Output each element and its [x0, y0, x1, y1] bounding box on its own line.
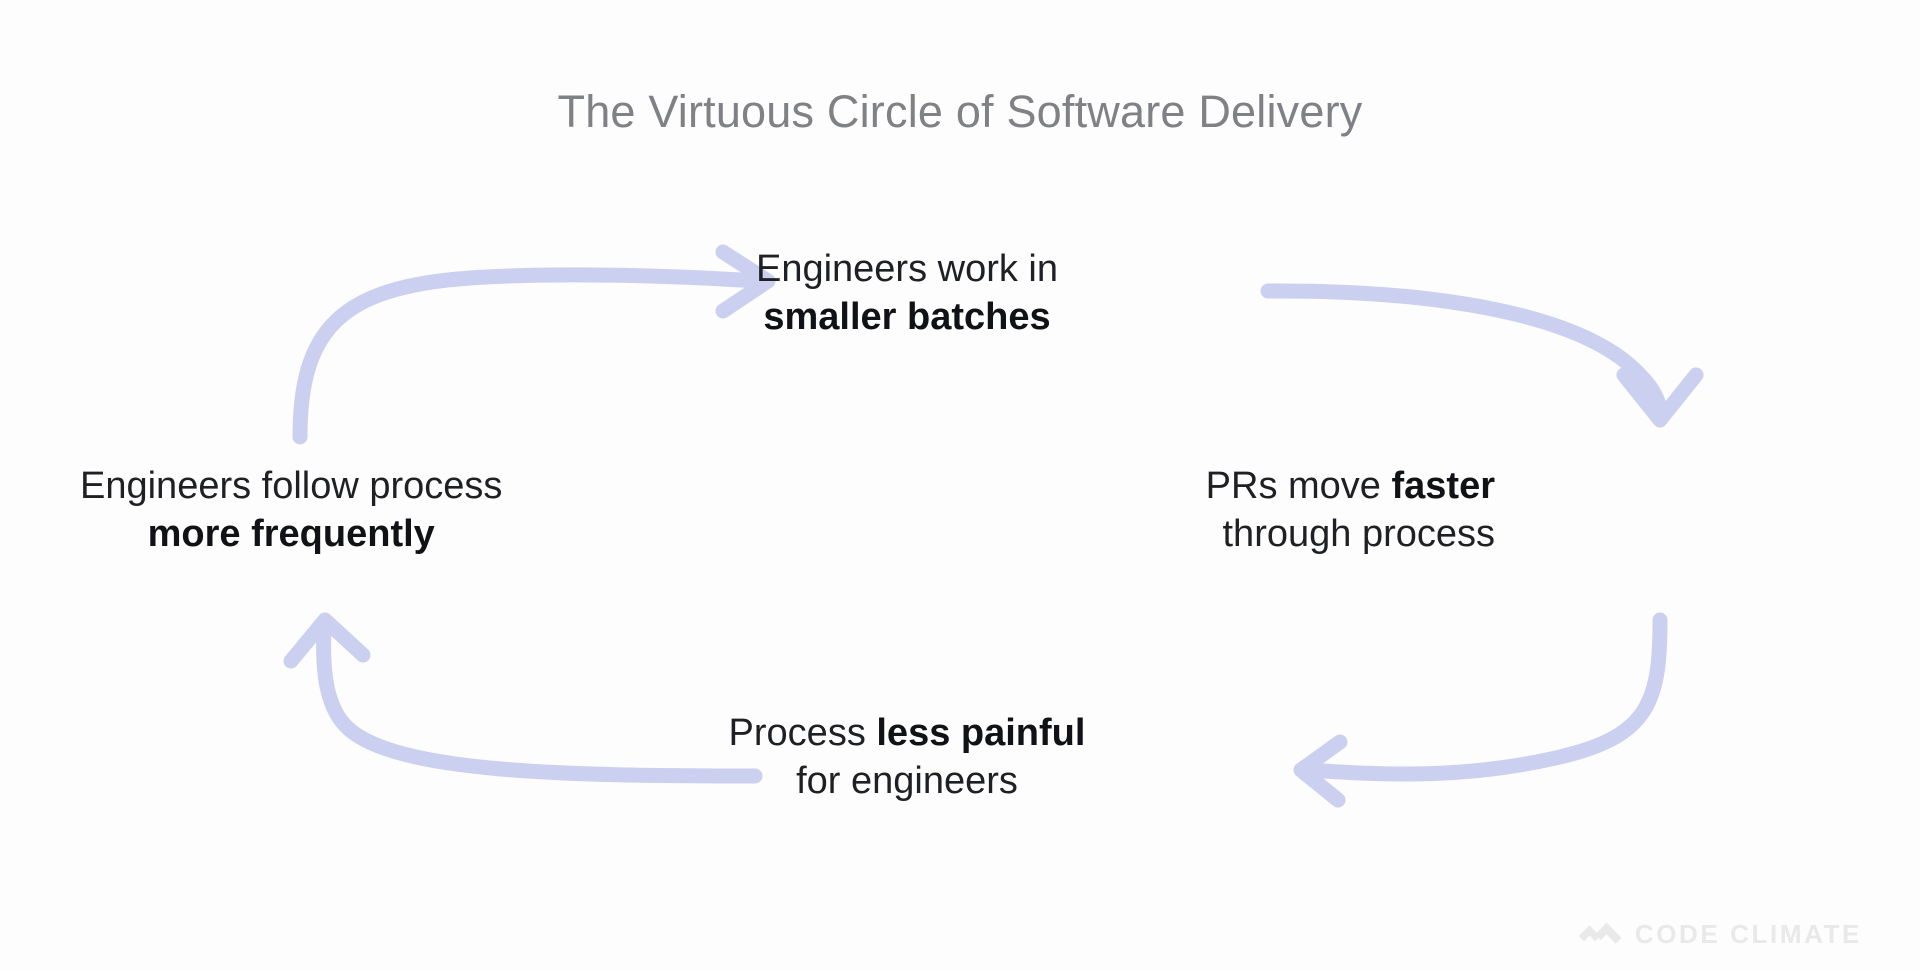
node-bottom-line-2: for engineers	[729, 758, 1086, 806]
mountains-icon	[1578, 922, 1622, 947]
code-climate-logo: CODE CLIMATE	[1578, 921, 1862, 947]
node-right-line-2: through process	[1206, 511, 1495, 559]
node-right-line-1-prefix: PRs move	[1206, 465, 1392, 507]
diagram-canvas: The Virtuous Circle of Software Delivery	[0, 0, 1920, 971]
node-left-line-2: more frequently	[148, 513, 435, 555]
logo-wordmark: CODE CLIMATE	[1635, 921, 1862, 947]
node-top: Engineers work in smaller batches	[0, 246, 1920, 342]
node-top-line-2: smaller batches	[763, 296, 1050, 338]
node-right-line-1-bold: faster	[1392, 465, 1496, 507]
node-bottom-line-1-bold: less painful	[876, 712, 1085, 754]
page-title: The Virtuous Circle of Software Delivery	[0, 86, 1920, 138]
node-left-line-1: Engineers follow process	[80, 463, 502, 511]
node-bottom-line-1-prefix: Process	[729, 712, 877, 754]
node-right: PRs move faster through process	[1206, 463, 1495, 559]
node-top-line-1: Engineers work in	[756, 246, 1058, 294]
node-bottom: Process less painful for engineers	[0, 710, 1920, 806]
node-left: Engineers follow process more frequently	[80, 463, 502, 559]
